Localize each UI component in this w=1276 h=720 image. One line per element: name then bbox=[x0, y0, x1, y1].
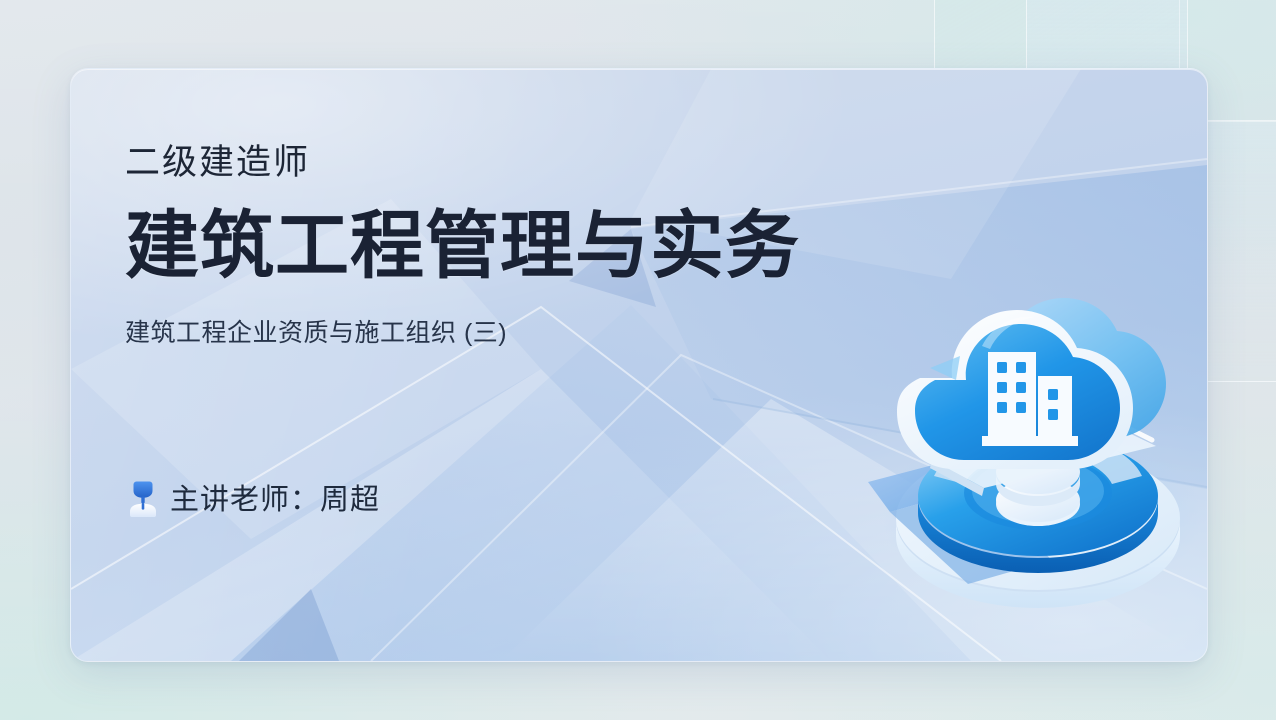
user-badge-icon bbox=[126, 477, 160, 517]
course-title-slide: 二级建造师 建筑工程管理与实务 建筑工程企业资质与施工组织 (三) bbox=[0, 0, 1276, 720]
title-text-block: 二级建造师 建筑工程管理与实务 建筑工程企业资质与施工组织 (三) bbox=[125, 142, 800, 349]
cloud-building-3d-icon bbox=[856, 250, 1216, 620]
presenter-row: 主讲老师：周超 bbox=[126, 476, 380, 518]
presenter-name: 主讲老师：周超 bbox=[170, 476, 380, 518]
page-title: 建筑工程管理与实务 bbox=[125, 205, 800, 286]
course-subtitle: 建筑工程企业资质与施工组织 (三) bbox=[125, 317, 800, 350]
course-eyebrow: 二级建造师 bbox=[125, 142, 800, 183]
